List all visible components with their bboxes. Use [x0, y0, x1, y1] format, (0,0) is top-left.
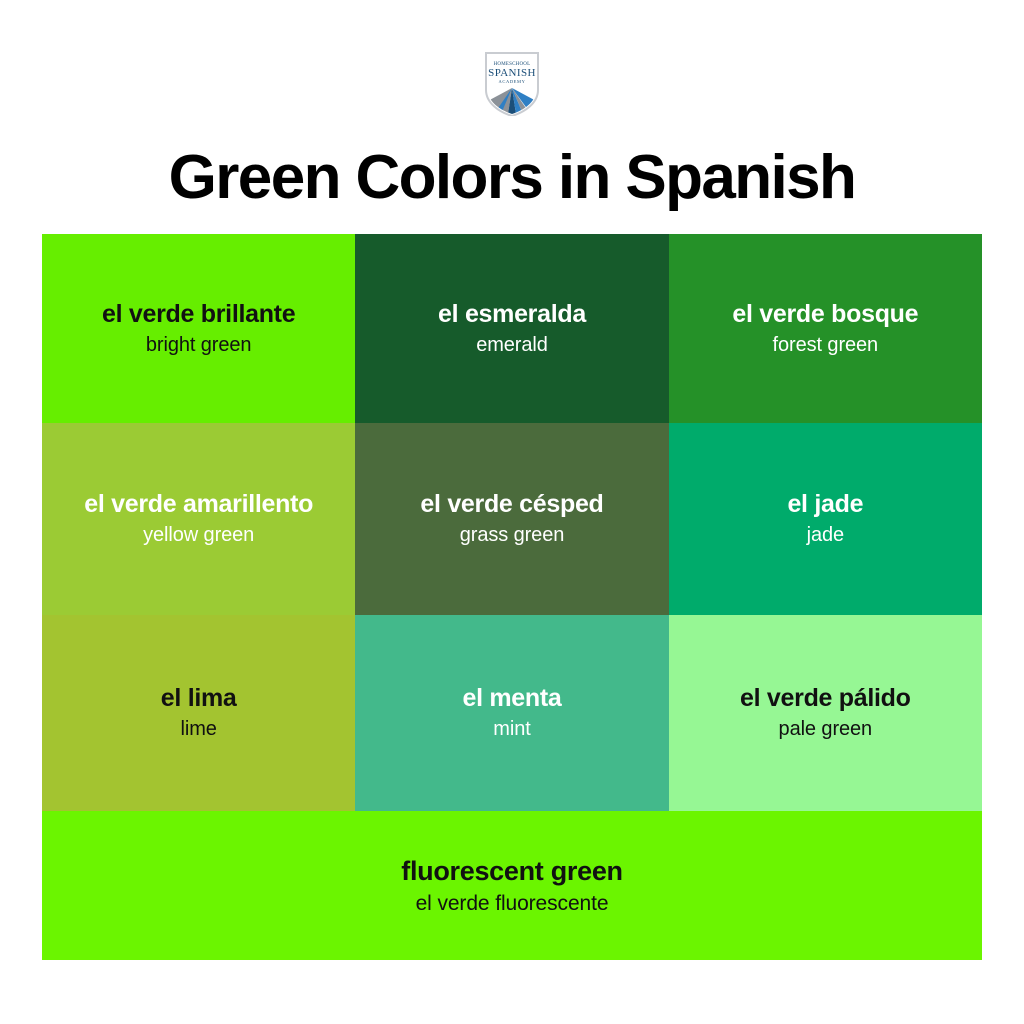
color-term-secondary: grass green	[460, 522, 565, 549]
color-term-primary: el verde amarillento	[84, 489, 313, 520]
color-term-primary: el verde bosque	[732, 299, 918, 330]
color-grid-row: el verde amarillentoyellow greenel verde…	[42, 423, 982, 615]
color-swatch-cell[interactable]: fluorescent greenel verde fluorescente	[42, 811, 982, 960]
color-swatch-cell[interactable]: el verde brillantebright green	[42, 234, 355, 423]
color-swatch-cell[interactable]: el verde amarillentoyellow green	[42, 423, 355, 615]
page-title: Green Colors in Spanish	[0, 133, 1024, 223]
spanish-academy-shield-logo: HOMESCHOOL SPANISH ACADEMY	[484, 52, 540, 116]
color-term-secondary: el verde fluorescente	[416, 890, 609, 918]
color-term-secondary: forest green	[773, 332, 879, 359]
logo-container: HOMESCHOOL SPANISH ACADEMY	[0, 52, 1024, 116]
color-swatch-cell[interactable]: el jadejade	[669, 423, 982, 615]
color-term-primary: el verde pálido	[740, 683, 911, 714]
color-term-primary: el verde césped	[420, 489, 603, 520]
color-grid: el verde brillantebright greenel esmeral…	[42, 234, 982, 960]
logo-bottom-text: ACADEMY	[499, 79, 526, 84]
color-term-secondary: bright green	[146, 332, 252, 359]
color-grid-row: fluorescent greenel verde fluorescente	[42, 811, 982, 960]
color-grid-row: el limalimeel mentamintel verde pálidopa…	[42, 615, 982, 811]
color-swatch-cell[interactable]: el mentamint	[355, 615, 668, 811]
color-term-secondary: jade	[807, 522, 844, 549]
color-term-primary: el jade	[787, 489, 863, 520]
color-term-primary: el lima	[161, 683, 237, 714]
color-swatch-cell[interactable]: el esmeraldaemerald	[355, 234, 668, 423]
color-swatch-cell[interactable]: el verde céspedgrass green	[355, 423, 668, 615]
color-term-secondary: mint	[493, 716, 530, 743]
color-term-secondary: emerald	[476, 332, 548, 359]
color-term-secondary: yellow green	[143, 522, 254, 549]
color-term-primary: fluorescent green	[401, 854, 622, 888]
logo-main-text: SPANISH	[488, 67, 536, 79]
color-swatch-cell[interactable]: el limalime	[42, 615, 355, 811]
color-term-primary: el menta	[462, 683, 561, 714]
color-term-secondary: pale green	[779, 716, 873, 743]
color-term-primary: el esmeralda	[438, 299, 586, 330]
color-swatch-cell[interactable]: el verde bosqueforest green	[669, 234, 982, 423]
color-term-primary: el verde brillante	[102, 299, 295, 330]
color-grid-row: el verde brillantebright greenel esmeral…	[42, 234, 982, 423]
color-swatch-cell[interactable]: el verde pálidopale green	[669, 615, 982, 811]
color-term-secondary: lime	[181, 716, 217, 743]
